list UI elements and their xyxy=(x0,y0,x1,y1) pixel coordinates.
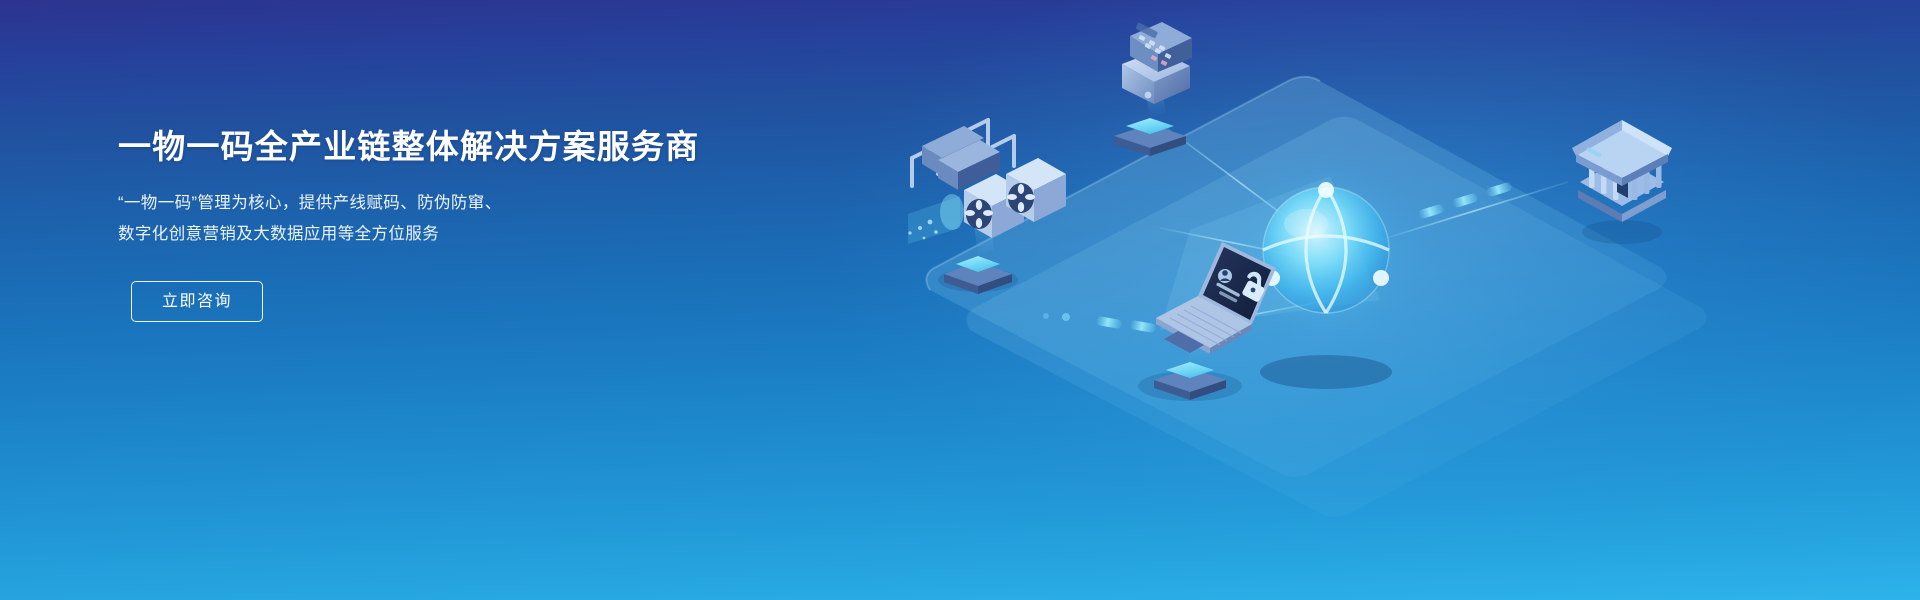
page-title: 一物一码全产业链整体解决方案服务商 xyxy=(118,126,758,167)
hero-content: 一物一码全产业链整体解决方案服务商 “一物一码”管理为核心，提供产线赋码、防伪防… xyxy=(118,126,758,322)
hero-banner: 一物一码全产业链整体解决方案服务商 “一物一码”管理为核心，提供产线赋码、防伪防… xyxy=(0,0,1920,600)
hero-subtitle: “一物一码”管理为核心，提供产线赋码、防伪防窜、 数字化创意营销及大数据应用等全… xyxy=(118,188,758,250)
pos-terminal-icon xyxy=(1114,22,1192,156)
subtitle-line-2: 数字化创意营销及大数据应用等全方位服务 xyxy=(118,219,758,250)
subtitle-line-1: “一物一码”管理为核心，提供产线赋码、防伪防窜、 xyxy=(118,188,758,219)
hero-illustration xyxy=(860,0,1920,600)
consult-now-button[interactable]: 立即咨询 xyxy=(131,281,263,322)
